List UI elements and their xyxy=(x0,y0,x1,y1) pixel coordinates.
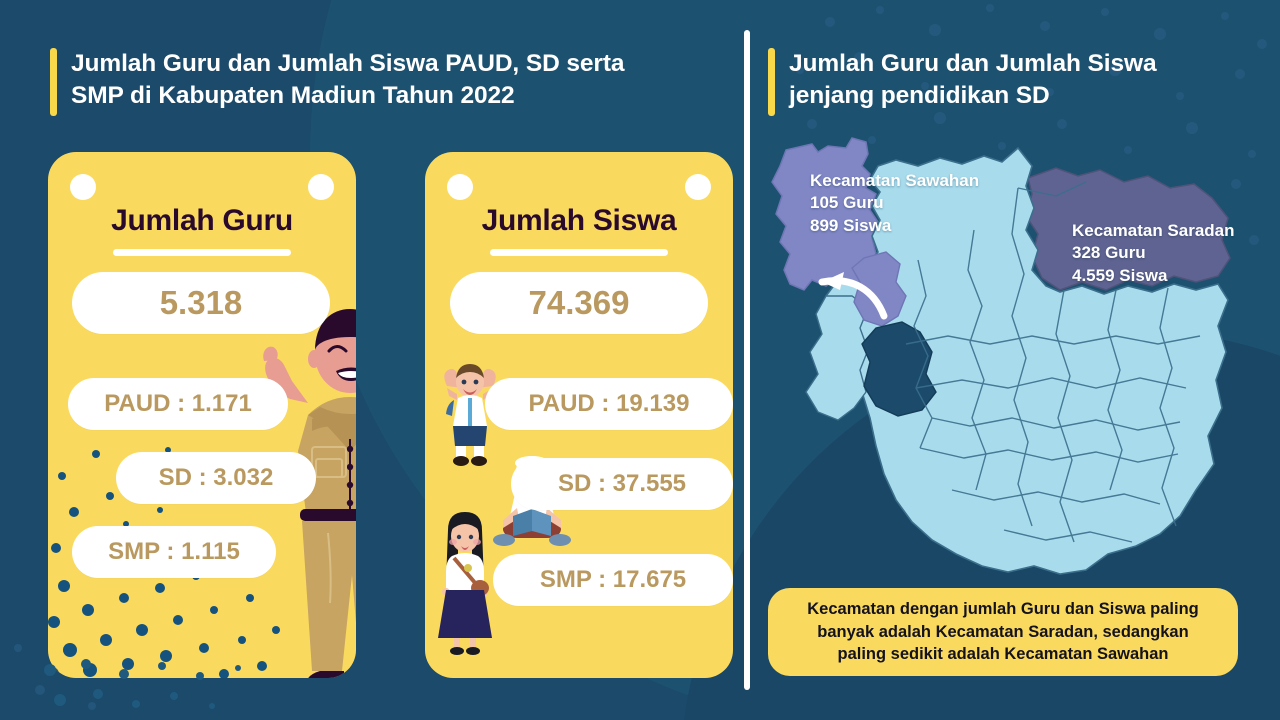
card-siswa-underline xyxy=(490,249,668,256)
map-region-west-lobe xyxy=(806,296,868,420)
right-title-text: Jumlah Guru dan Jumlah Siswa jenjang pen… xyxy=(789,48,1157,113)
siswa-sd-row: SD : 37.555 xyxy=(511,458,733,510)
siswa-smp-row: SMP : 17.675 xyxy=(493,554,733,606)
card-jumlah-guru: Jumlah Guru xyxy=(48,152,356,678)
title-accent-bar xyxy=(50,48,57,116)
panel-divider xyxy=(744,30,750,690)
card-jumlah-siswa: Jumlah Siswa xyxy=(425,152,733,678)
summary-note-box: Kecamatan dengan jumlah Guru dan Siswa p… xyxy=(768,588,1238,676)
card-siswa-title: Jumlah Siswa xyxy=(425,204,733,238)
siswa-paud-row: PAUD : 19.139 xyxy=(485,378,733,430)
background-dot-spill xyxy=(40,656,310,720)
guru-smp-row: SMP : 1.115 xyxy=(72,526,276,578)
girl-student-illustration xyxy=(430,510,500,658)
left-title-text: Jumlah Guru dan Jumlah Siswa PAUD, SD se… xyxy=(71,48,624,113)
card-notch-right-icon xyxy=(308,174,334,200)
guru-sd-row: SD : 3.032 xyxy=(116,452,316,504)
left-panel-title: Jumlah Guru dan Jumlah Siswa PAUD, SD se… xyxy=(50,48,730,116)
card-guru-underline xyxy=(113,249,291,256)
summary-note-text: Kecamatan dengan jumlah Guru dan Siswa p… xyxy=(807,598,1199,665)
title-accent-bar xyxy=(768,48,775,116)
right-panel-title: Jumlah Guru dan Jumlah Siswa jenjang pen… xyxy=(768,48,1238,116)
infographic-canvas: Jumlah Guru dan Jumlah Siswa PAUD, SD se… xyxy=(0,0,1280,720)
guru-paud-row: PAUD : 1.171 xyxy=(68,378,288,430)
card-notch-left-icon xyxy=(447,174,473,200)
card-notch-left-icon xyxy=(70,174,96,200)
map-label-saradan: Kecamatan Saradan 328 Guru 4.559 Siswa xyxy=(1072,220,1235,287)
card-notch-right-icon xyxy=(685,174,711,200)
card-guru-title: Jumlah Guru xyxy=(48,204,356,238)
siswa-total-value: 74.369 xyxy=(450,272,708,334)
map-label-sawahan: Kecamatan Sawahan 105 Guru 899 Siswa xyxy=(810,170,979,237)
guru-total-value: 5.318 xyxy=(72,272,330,334)
